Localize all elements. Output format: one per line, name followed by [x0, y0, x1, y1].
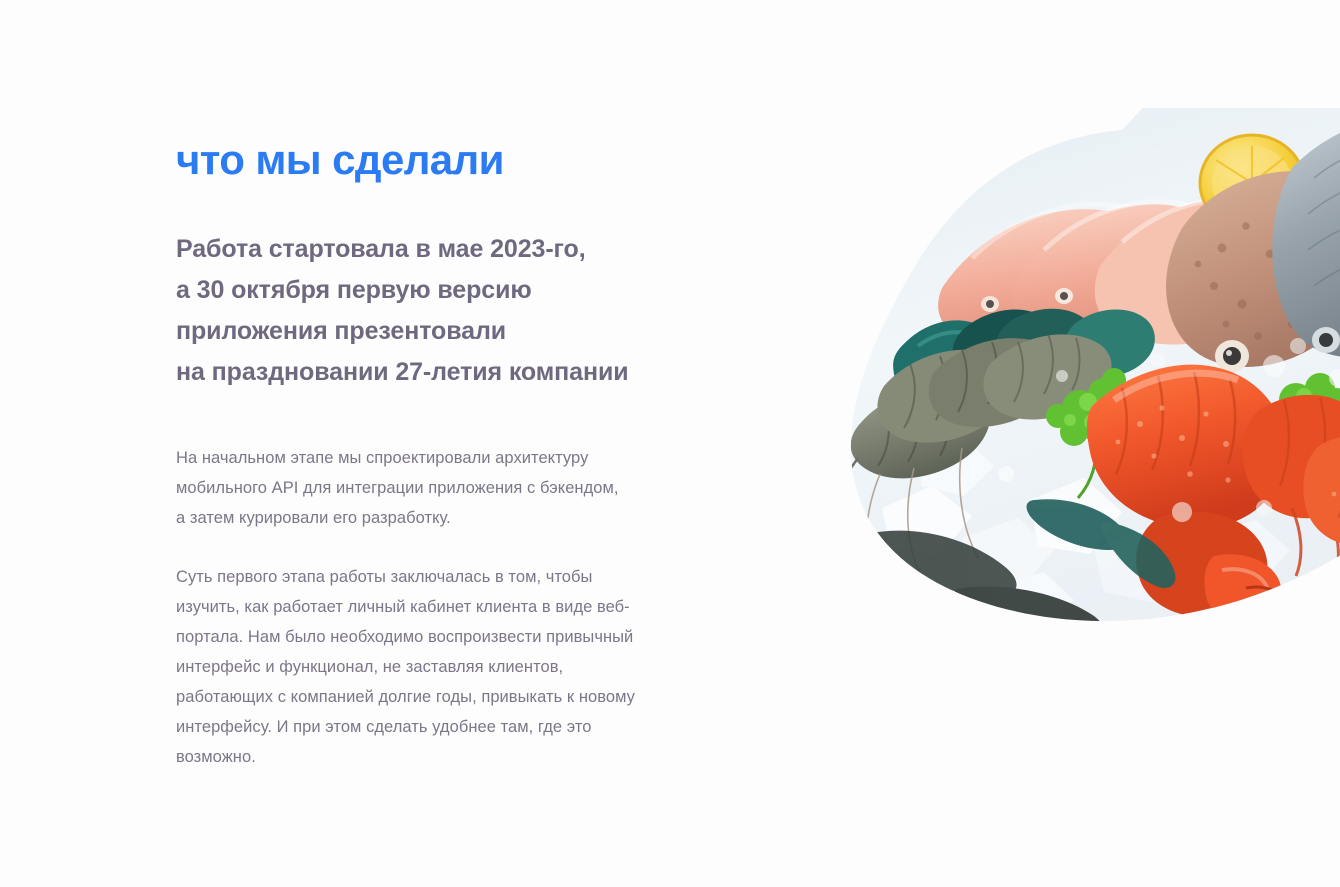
slide-canvas: что мы сделали Работа стартовала в мае 2…	[0, 0, 1340, 887]
subtitle-line: приложения презентовали	[176, 311, 721, 352]
body-line: изучить, как работает личный кабинет кли…	[176, 592, 716, 622]
body-paragraph: На начальном этапе мы спроектировали арх…	[176, 443, 716, 533]
body-line: мобильного API для интеграции приложения…	[176, 473, 716, 503]
hero-image	[822, 108, 1340, 638]
body-line: интерфейсу. И при этом сделать удобнее т…	[176, 712, 716, 742]
subtitle-line: Работа стартовала в мае 2023-го,	[176, 229, 721, 270]
subtitle-line: на праздновании 27-летия компании	[176, 352, 721, 393]
seafood-on-ice-illustration	[822, 108, 1340, 638]
body-line: интерфейс и функционал, не заставляя кли…	[176, 652, 716, 682]
subtitle-block: Работа стартовала в мае 2023-го, а 30 ок…	[176, 229, 721, 393]
body-line: работающих с компанией долгие годы, прив…	[176, 682, 716, 712]
body-line: портала. Нам было необходимо воспроизвес…	[176, 622, 716, 652]
body-line: Суть первого этапа работы заключалась в …	[176, 562, 716, 592]
body-line: возможно.	[176, 742, 716, 772]
page-title: что мы сделали	[176, 134, 721, 186]
body-line: На начальном этапе мы спроектировали арх…	[176, 443, 716, 473]
body-line: а затем курировали его разработку.	[176, 503, 716, 533]
text-column: что мы сделали Работа стартовала в мае 2…	[176, 134, 721, 772]
subtitle-line: а 30 октября первую версию	[176, 270, 721, 311]
body-paragraph: Суть первого этапа работы заключалась в …	[176, 562, 716, 772]
